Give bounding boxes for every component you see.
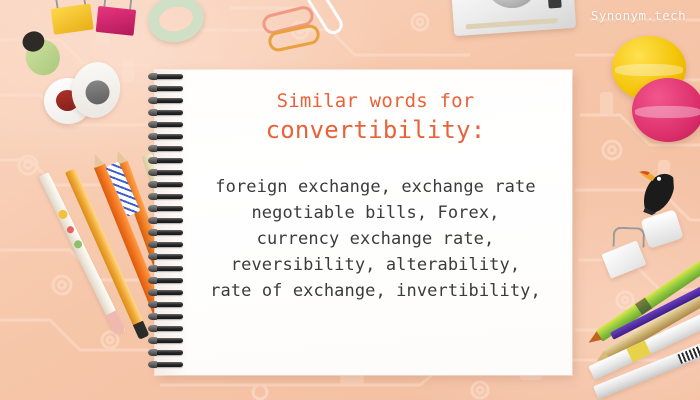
yellow-binder-clip bbox=[50, 0, 96, 37]
similar-words-label: Similar words for bbox=[185, 88, 566, 114]
camera-button bbox=[548, 0, 562, 9]
synonym-line: negotiable bills, Forex, bbox=[185, 200, 566, 226]
synonym-list: foreign exchange, exchange rate negotiab… bbox=[185, 174, 566, 304]
headword: convertibility: bbox=[185, 114, 566, 146]
synonym-line: rate of exchange, invertibility, bbox=[185, 278, 566, 304]
camera-lens bbox=[483, 0, 541, 10]
site-watermark: Synonym.tech bbox=[591, 8, 686, 23]
toucan-sticker bbox=[630, 153, 690, 220]
magenta-binder-clip bbox=[95, 2, 138, 38]
camera-grip bbox=[466, 18, 558, 29]
notebook-page: Similar words for convertibility: foreig… bbox=[155, 70, 572, 375]
synonym-line: reversibility, alterability, bbox=[185, 252, 566, 278]
synonym-line: currency exchange rate, bbox=[185, 226, 566, 252]
page-content: Similar words for convertibility: foreig… bbox=[185, 88, 566, 304]
spiral-binding bbox=[152, 74, 186, 374]
synonym-line: foreign exchange, exchange rate bbox=[185, 174, 566, 200]
pink-macaron bbox=[632, 78, 700, 142]
screenshot-canvas: Similar words for convertibility: foreig… bbox=[0, 0, 700, 400]
